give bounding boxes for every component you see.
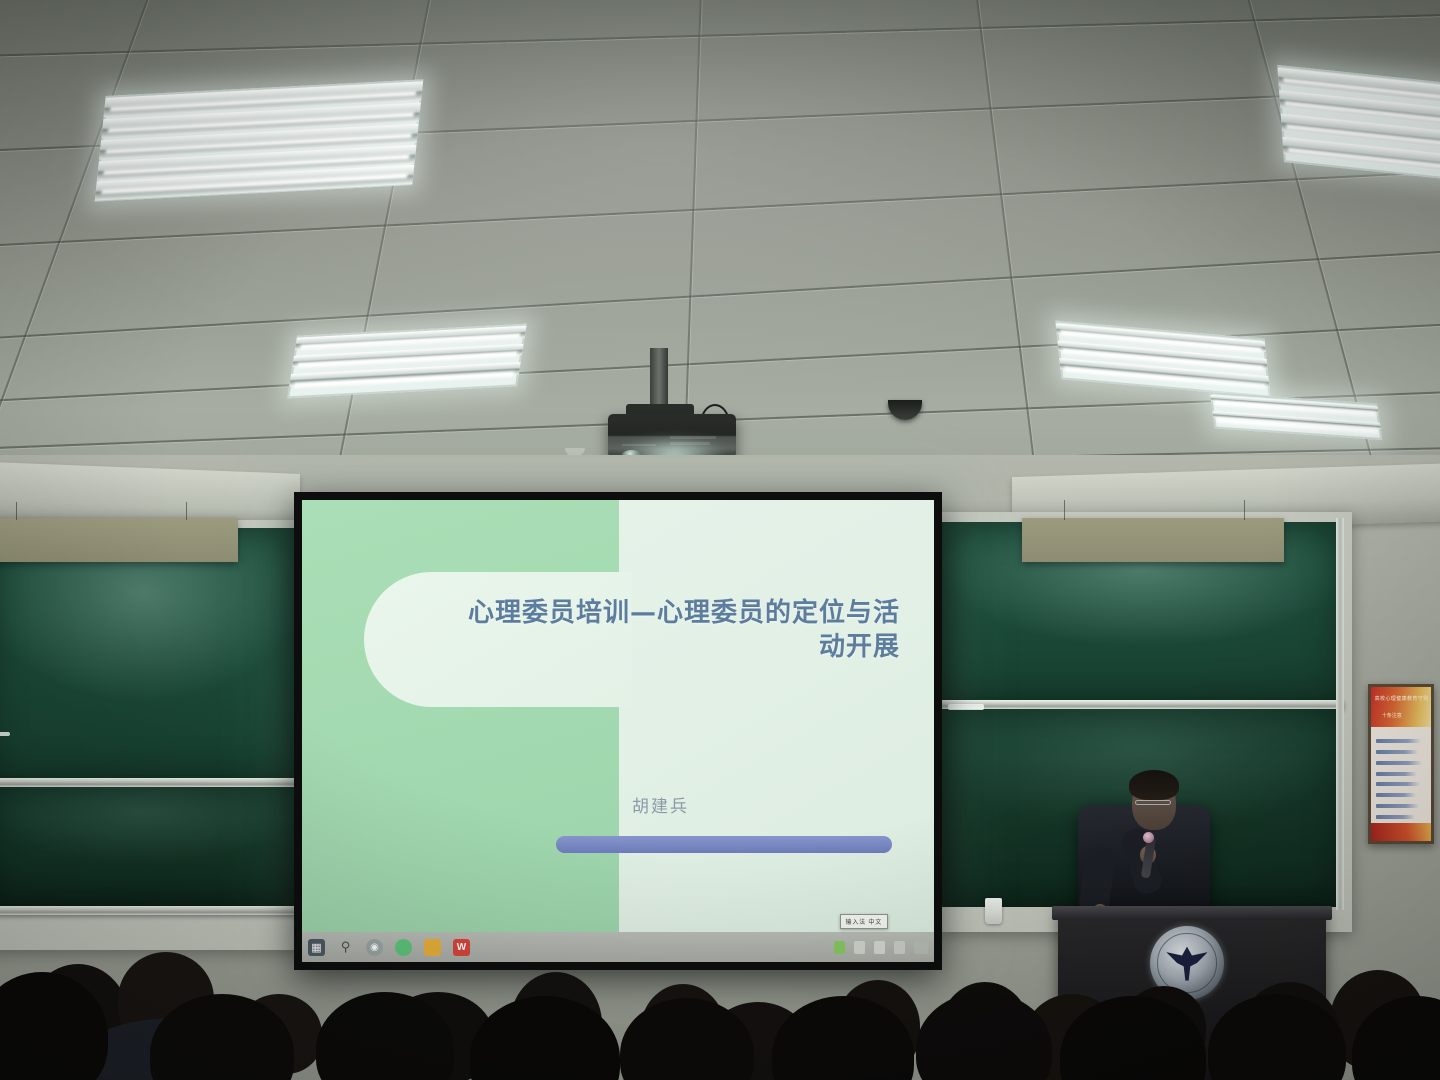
lecture-hall-photo: 高校心理健康教育守则 十条注意 心理委员培训—心理委员的定位与活 动开展 胡建兵 <box>0 0 1440 1080</box>
poster-subtitle: 十条注意 <box>1382 712 1402 719</box>
poster-header-band <box>1371 687 1431 727</box>
slide-author: 胡建兵 <box>632 792 689 817</box>
slide-title: 心理委员培训—心理委员的定位与活 动开展 <box>360 596 900 665</box>
microphone-head <box>1143 832 1154 843</box>
ceiling-light-fixture <box>1055 320 1270 397</box>
slide-canvas: 心理委员培训—心理委员的定位与活 动开展 胡建兵 <box>302 500 934 932</box>
slide-title-line-1: 心理委员培训—心理委员的定位与活 <box>360 596 900 630</box>
speaker-hair <box>1129 770 1179 800</box>
chalkboard-left <box>0 520 298 950</box>
poster-title: 高校心理健康教育守则 <box>1375 695 1429 702</box>
ceiling-light-fixture <box>287 324 527 399</box>
audience <box>0 890 1440 1080</box>
ceiling-light-fixture <box>95 79 424 201</box>
slide-title-line-2: 动开展 <box>360 630 900 664</box>
chalk-rail <box>940 700 1344 709</box>
hanging-banner-right <box>1022 518 1284 562</box>
poster-footer-band <box>1371 823 1431 841</box>
projector-mount-pole <box>650 348 668 408</box>
hanging-banner-left <box>0 518 238 562</box>
speaker-glasses <box>1135 800 1171 805</box>
wall-poster: 高校心理健康教育守则 十条注意 <box>1368 684 1434 844</box>
audience-head <box>916 992 1052 1080</box>
slide-accent-bar <box>556 836 892 853</box>
ceiling-light-fixture <box>1277 65 1440 187</box>
slide-green-band <box>302 500 619 932</box>
ceiling-light-fixture <box>1210 392 1383 440</box>
chalk-rail <box>0 778 298 787</box>
